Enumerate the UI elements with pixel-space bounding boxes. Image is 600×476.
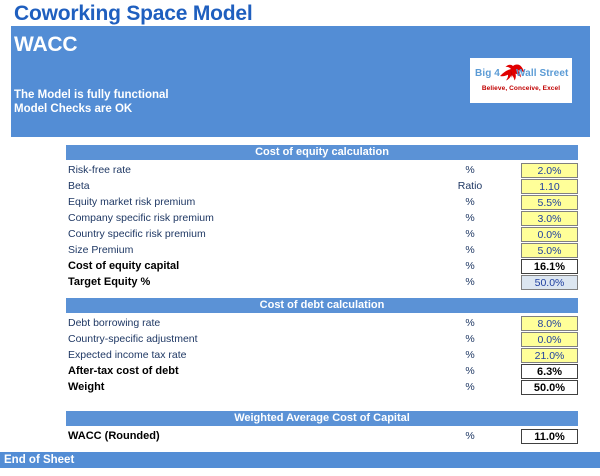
model-status-note: The Model is fully functional Model Chec… [14, 88, 169, 116]
logo-text-right: Wall Street [516, 68, 568, 79]
row-label: Risk-free rate [68, 164, 131, 176]
row-label: Expected income tax rate [68, 349, 186, 361]
table-row: Cost of equity capital % 16.1% [0, 259, 600, 275]
row-value-input[interactable]: 1.10 [521, 179, 578, 194]
row-unit: % [440, 349, 500, 361]
row-unit: % [440, 317, 500, 329]
row-unit: Ratio [440, 180, 500, 192]
row-label: Debt borrowing rate [68, 317, 160, 329]
row-label: Beta [68, 180, 90, 192]
section-header-cost-of-debt: Cost of debt calculation [66, 298, 578, 313]
row-label: Cost of equity capital [68, 260, 179, 272]
table-row: Company specific risk premium % 3.0% [0, 211, 600, 227]
row-value-input[interactable]: 21.0% [521, 348, 578, 363]
table-row: Target Equity % % 50.0% [0, 275, 600, 291]
row-unit: % [440, 365, 500, 377]
table-row: Beta Ratio 1.10 [0, 179, 600, 195]
table-row: Equity market risk premium % 5.5% [0, 195, 600, 211]
row-value-input[interactable]: 0.0% [521, 332, 578, 347]
section-header-wacc: Weighted Average Cost of Capital [66, 411, 578, 426]
row-unit: % [440, 164, 500, 176]
row-label: Company specific risk premium [68, 212, 214, 224]
end-of-sheet-bar: End of Sheet [0, 452, 600, 468]
row-unit: % [440, 276, 500, 288]
row-value-input[interactable]: 5.5% [521, 195, 578, 210]
table-row: Size Premium % 5.0% [0, 243, 600, 259]
table-row: Country-specific adjustment % 0.0% [0, 332, 600, 348]
row-unit: % [440, 333, 500, 345]
row-label: Equity market risk premium [68, 196, 195, 208]
row-label: After-tax cost of debt [68, 365, 179, 377]
row-label: WACC (Rounded) [68, 430, 160, 442]
row-value-calculated: 11.0% [521, 429, 578, 444]
page-title: Coworking Space Model [14, 2, 253, 26]
table-row: WACC (Rounded) % 11.0% [0, 429, 600, 445]
model-status-line-1: The Model is fully functional [14, 88, 169, 102]
row-label: Weight [68, 381, 104, 393]
row-unit: % [440, 244, 500, 256]
model-status-line-2: Model Checks are OK [14, 102, 169, 116]
row-label: Country-specific adjustment [68, 333, 198, 345]
row-label: Size Premium [68, 244, 133, 256]
row-value-linked[interactable]: 50.0% [521, 275, 578, 290]
row-value-input[interactable]: 0.0% [521, 227, 578, 242]
table-row: Country specific risk premium % 0.0% [0, 227, 600, 243]
row-value-calculated: 50.0% [521, 380, 578, 395]
logo-text-left: Big 4 [475, 68, 500, 79]
row-label: Country specific risk premium [68, 228, 206, 240]
logo-wordmark: Big 4 Wall Street [470, 67, 572, 83]
row-unit: % [440, 212, 500, 224]
row-unit: % [440, 260, 500, 272]
row-value-input[interactable]: 2.0% [521, 163, 578, 178]
spreadsheet-sheet: Coworking Space Model WACC The Model is … [0, 0, 600, 476]
row-value-input[interactable]: 8.0% [521, 316, 578, 331]
table-row: Expected income tax rate % 21.0% [0, 348, 600, 364]
logo-tagline: Believe, Conceive, Excel [470, 85, 572, 92]
row-value-calculated: 6.3% [521, 364, 578, 379]
row-unit: % [440, 430, 500, 442]
row-unit: % [440, 228, 500, 240]
table-row: After-tax cost of debt % 6.3% [0, 364, 600, 380]
company-logo: Big 4 Wall Street Believe, Conceive, Exc… [470, 58, 572, 103]
row-unit: % [440, 381, 500, 393]
table-row: Risk-free rate % 2.0% [0, 163, 600, 179]
row-value-calculated: 16.1% [521, 259, 578, 274]
row-label: Target Equity % [68, 276, 150, 288]
row-value-input[interactable]: 5.0% [521, 243, 578, 258]
row-value-input[interactable]: 3.0% [521, 211, 578, 226]
section-header-cost-of-equity: Cost of equity calculation [66, 145, 578, 160]
sheet-title: WACC [14, 33, 77, 57]
row-unit: % [440, 196, 500, 208]
table-row: Weight % 50.0% [0, 380, 600, 396]
table-row: Debt borrowing rate % 8.0% [0, 316, 600, 332]
